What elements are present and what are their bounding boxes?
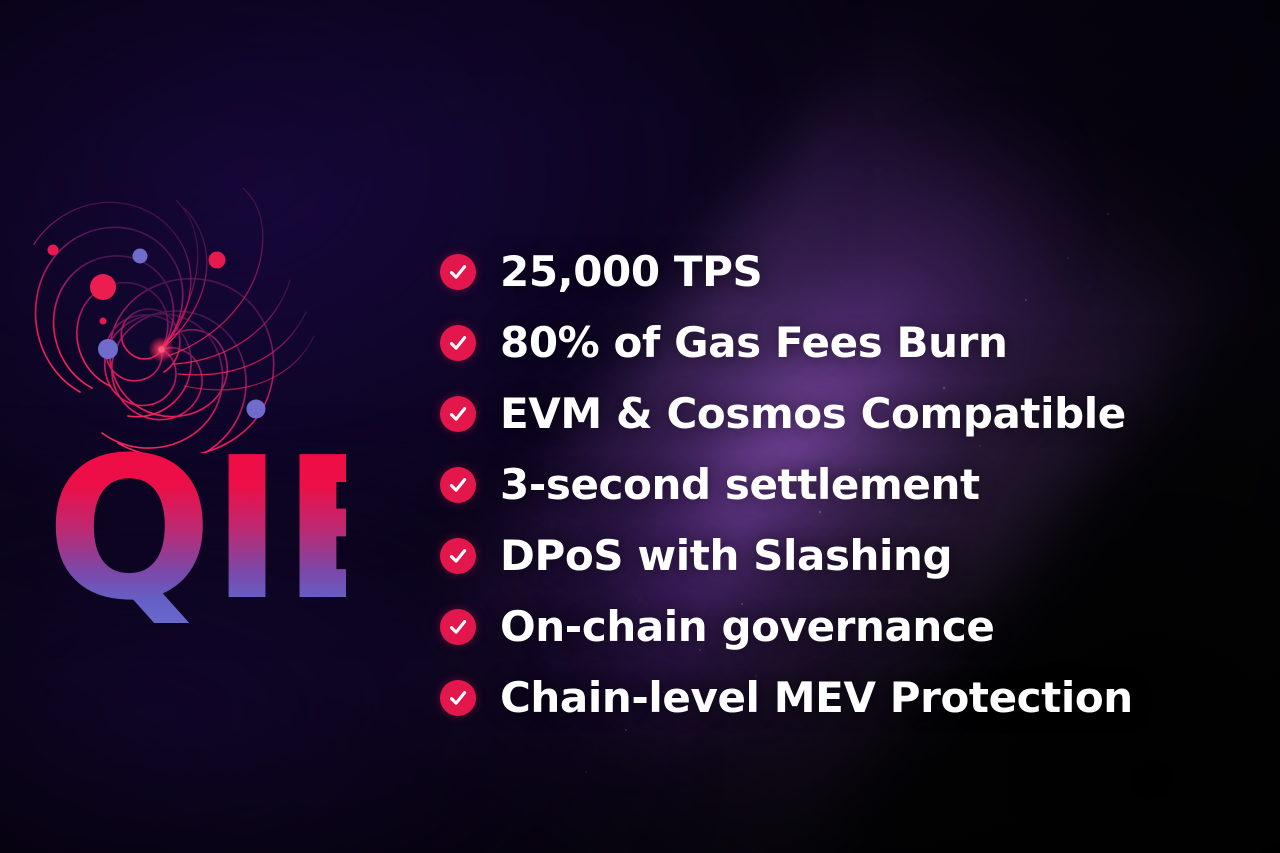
qie-wordmark: QIE [46, 438, 346, 623]
qie-spiral-galaxy-logo [18, 188, 318, 453]
feature-label: 80% of Gas Fees Burn [500, 322, 1007, 364]
feature-label: 25,000 TPS [500, 251, 762, 293]
check-icon [440, 325, 476, 361]
feature-label: On-chain governance [500, 606, 995, 648]
spiral-arms [34, 188, 314, 453]
orbit-dot-red-tiny [100, 318, 107, 325]
feature-item: 3-second settlement [440, 449, 1240, 520]
orbit-dot-red-small [48, 245, 59, 256]
feature-item: On-chain governance [440, 591, 1240, 662]
orbit-dot-red-large [90, 274, 116, 300]
feature-label: DPoS with Slashing [500, 535, 952, 577]
feature-item: 25,000 TPS [440, 236, 1240, 307]
check-icon [440, 680, 476, 716]
feature-item: Chain-level MEV Protection [440, 662, 1240, 733]
feature-list: 25,000 TPS 80% of Gas Fees Burn EVM & Co… [440, 236, 1240, 733]
spiral-core-dot [158, 346, 164, 352]
check-icon [440, 467, 476, 503]
check-icon [440, 609, 476, 645]
promo-graphic: QIE 25,000 TPS 80% of Gas Fees Burn [0, 0, 1280, 853]
feature-item: EVM & Cosmos Compatible [440, 378, 1240, 449]
feature-label: EVM & Cosmos Compatible [500, 393, 1126, 435]
feature-label: 3-second settlement [500, 464, 980, 506]
orbit-dot-periwinkle-upper [133, 249, 148, 264]
orbit-dot-periwinkle-left [98, 339, 118, 359]
check-icon [440, 396, 476, 432]
brand-block: QIE [18, 188, 348, 628]
orbit-dot-red-right [209, 252, 226, 269]
check-icon [440, 254, 476, 290]
feature-item: 80% of Gas Fees Burn [440, 307, 1240, 378]
feature-item: DPoS with Slashing [440, 520, 1240, 591]
check-icon [440, 538, 476, 574]
feature-label: Chain-level MEV Protection [500, 677, 1133, 719]
